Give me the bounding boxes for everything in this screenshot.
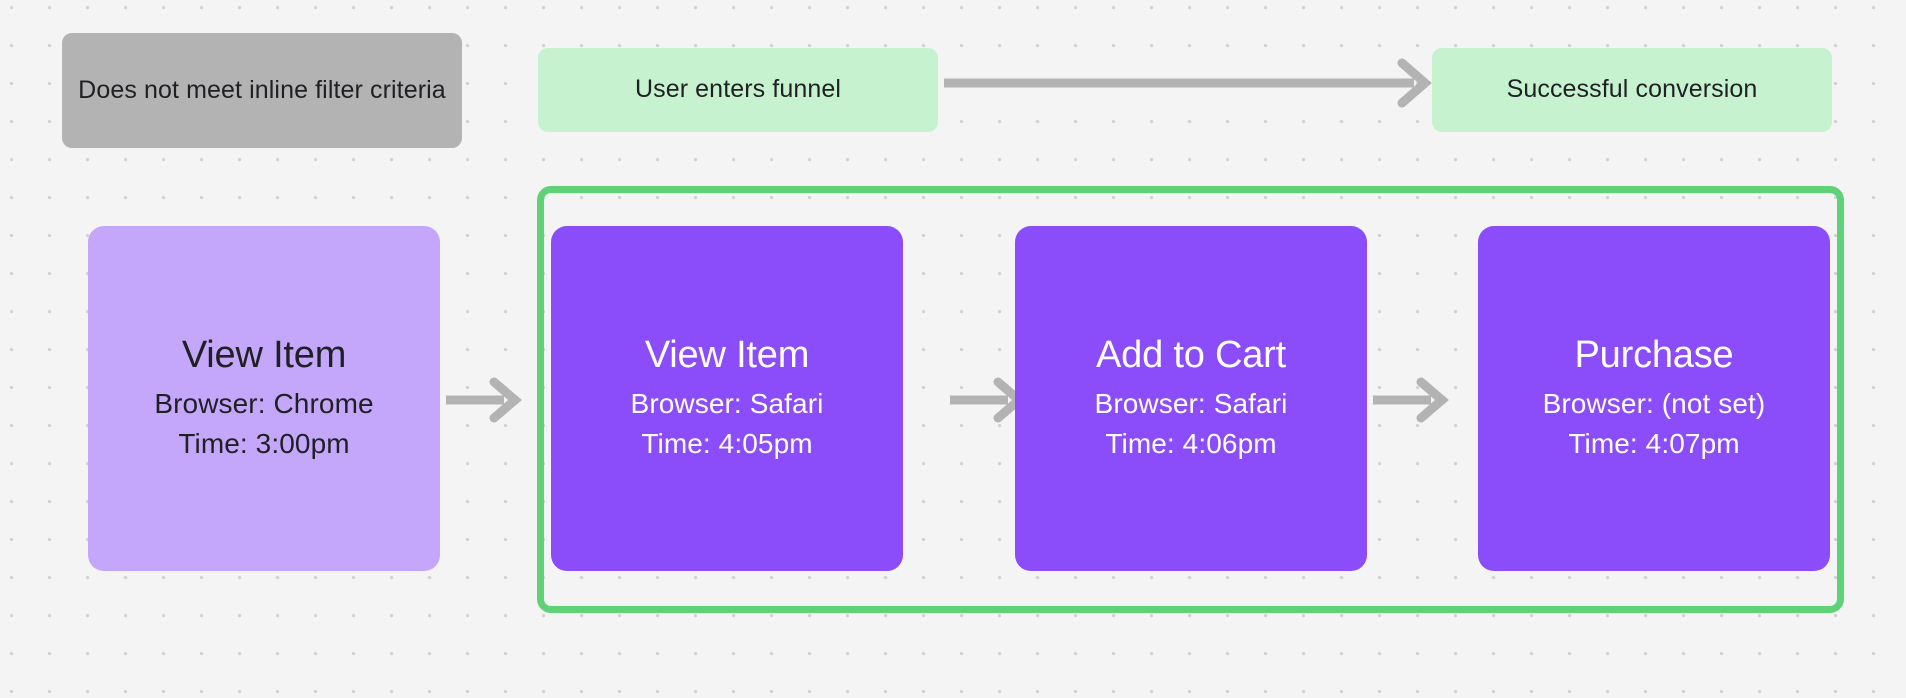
legend-chip-funnel-entry: User enters funnel [538, 48, 938, 132]
event-card-title: Add to Cart [1096, 333, 1286, 378]
event-card-title: Purchase [1575, 333, 1734, 378]
legend-flow-arrow-icon [944, 62, 1432, 104]
event-card-time: Time: 3:00pm [178, 424, 349, 464]
event-card-browser: Browser: Chrome [154, 384, 373, 424]
event-card-time: Time: 4:05pm [641, 424, 812, 464]
step-flow-arrow-icon-1 [446, 380, 522, 420]
event-card-browser: Browser: (not set) [1543, 384, 1766, 424]
event-card-included-2[interactable]: Add to Cart Browser: Safari Time: 4:06pm [1015, 226, 1367, 571]
event-card-browser: Browser: Safari [1095, 384, 1288, 424]
event-card-time: Time: 4:07pm [1568, 424, 1739, 464]
event-card-browser: Browser: Safari [631, 384, 824, 424]
event-card-included-1[interactable]: View Item Browser: Safari Time: 4:05pm [551, 226, 903, 571]
event-card-title: View Item [182, 333, 346, 378]
legend-chip-conversion-label: Successful conversion [1507, 73, 1758, 107]
event-card-excluded[interactable]: View Item Browser: Chrome Time: 3:00pm [88, 226, 440, 571]
diagram-canvas: Does not meet inline filter criteria Use… [0, 0, 1906, 698]
legend-chip-excluded: Does not meet inline filter criteria [62, 33, 462, 148]
legend-chip-conversion: Successful conversion [1432, 48, 1832, 132]
legend-chip-excluded-label: Does not meet inline filter criteria [78, 74, 446, 108]
event-card-included-3[interactable]: Purchase Browser: (not set) Time: 4:07pm [1478, 226, 1830, 571]
event-card-time: Time: 4:06pm [1105, 424, 1276, 464]
event-card-title: View Item [645, 333, 809, 378]
legend-chip-funnel-entry-label: User enters funnel [635, 73, 841, 107]
step-flow-arrow-icon-3 [1373, 380, 1449, 420]
